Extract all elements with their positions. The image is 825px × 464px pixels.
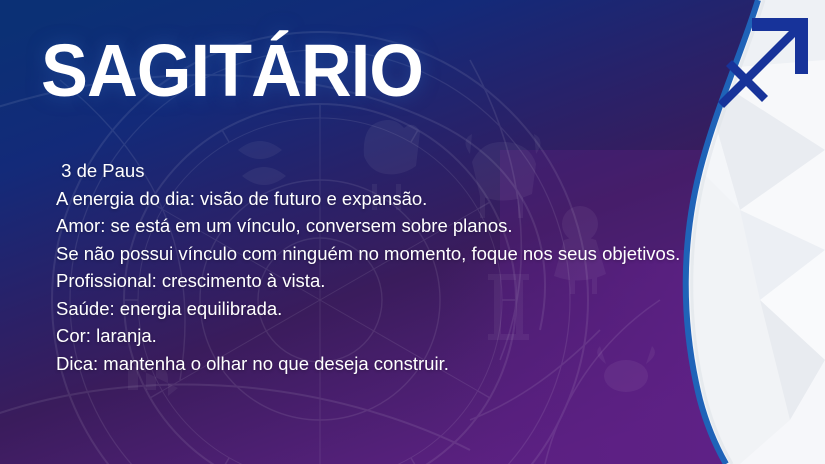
horoscope-card: SAGITÁRIO 3 de Paus A energia do dia: vi… — [0, 0, 825, 464]
reading-line: A energia do dia: visão de futuro e expa… — [56, 185, 756, 213]
reading-line: Saúde: energia equilibrada. — [56, 295, 756, 323]
reading-line: Profissional: crescimento à vista. — [56, 267, 756, 295]
reading-line: Cor: laranja. — [56, 322, 756, 350]
horoscope-body: 3 de Paus A energia do dia: visão de fut… — [56, 157, 756, 377]
reading-line: Amor: se está em um vínculo, conversem s… — [56, 212, 756, 240]
sagittarius-arrow-icon — [716, 16, 810, 110]
tarot-card-line: 3 de Paus — [56, 157, 756, 185]
reading-line: Se não possui vínculo com ninguém no mom… — [56, 240, 756, 268]
reading-line: Dica: mantenha o olhar no que deseja con… — [56, 350, 756, 378]
page-title: SAGITÁRIO — [41, 31, 423, 111]
